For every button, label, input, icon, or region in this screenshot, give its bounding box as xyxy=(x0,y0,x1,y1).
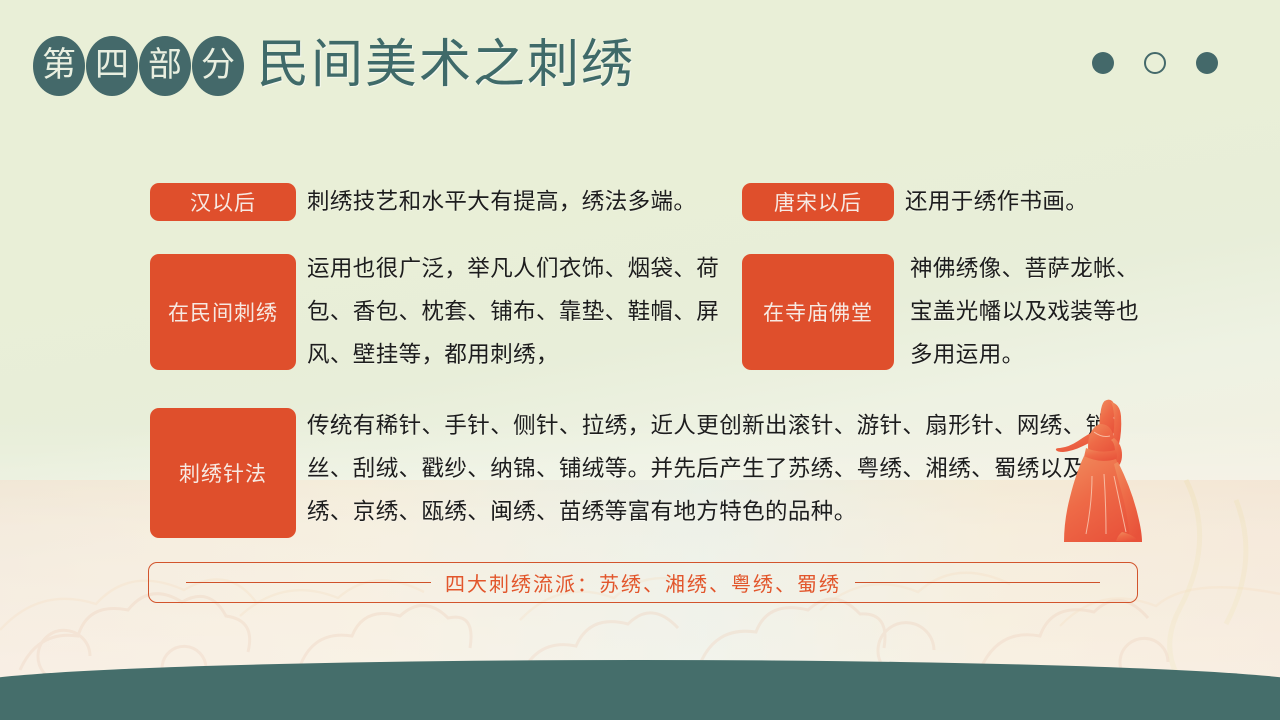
text-tangsong-yihou: 还用于绣作书画。 xyxy=(905,183,1165,221)
dot-hollow-center-icon xyxy=(1144,52,1166,74)
decor-dots xyxy=(1092,52,1218,74)
banner-text: 四大刺绣流派：苏绣、湘绣、粤绣、蜀绣 xyxy=(445,568,841,597)
title-badge-char-3: 部 xyxy=(139,36,191,96)
slide-canvas: 第 四 部 分 民间美术之刺绣 汉以后 刺绣技艺和水平大有提高，绣法多端。 唐宋… xyxy=(0,0,1280,720)
label-chip-han-yihou: 汉以后 xyxy=(150,183,296,221)
text-minjian-cixiu: 运用也很广泛，举凡人们衣饰、烟袋、荷包、香包、枕套、铺布、靠垫、鞋帽、屏风、壁挂… xyxy=(307,247,732,377)
dot-filled-right-icon xyxy=(1196,52,1218,74)
label-chip-tangsong-yihou: 唐宋以后 xyxy=(742,183,894,221)
label-chip-cixiu-zhenfa: 刺绣针法 xyxy=(150,408,296,538)
dot-filled-left-icon xyxy=(1092,52,1114,74)
footer-band xyxy=(0,660,1280,720)
title-badge-char-1: 第 xyxy=(33,36,85,96)
label-chip-minjian-cixiu: 在民间刺绣 xyxy=(150,254,296,370)
title-badge-char-4: 分 xyxy=(192,36,244,96)
text-han-yihou: 刺绣技艺和水平大有提高，绣法多端。 xyxy=(307,183,727,221)
label-chip-simiao-fotang: 在寺庙佛堂 xyxy=(742,254,894,370)
title-badge-char-2: 四 xyxy=(86,36,138,96)
banner-rule-left xyxy=(186,582,431,583)
bottom-banner: 四大刺绣流派：苏绣、湘绣、粤绣、蜀绣 xyxy=(148,562,1138,603)
page-title: 第 四 部 分 民间美术之刺绣 xyxy=(33,31,635,101)
title-main-text: 民间美术之刺绣 xyxy=(257,40,635,92)
text-cixiu-zhenfa: 传统有稀针、手针、侧针、拉绣，近人更创新出滚针、游针、扇形针、网绣、锁丝、刮绒、… xyxy=(307,404,1152,534)
text-simiao-fotang: 神佛绣像、菩萨龙帐、宝盖光幡以及戏装等也多用运用。 xyxy=(910,247,1145,377)
banner-rule-right xyxy=(855,582,1100,583)
